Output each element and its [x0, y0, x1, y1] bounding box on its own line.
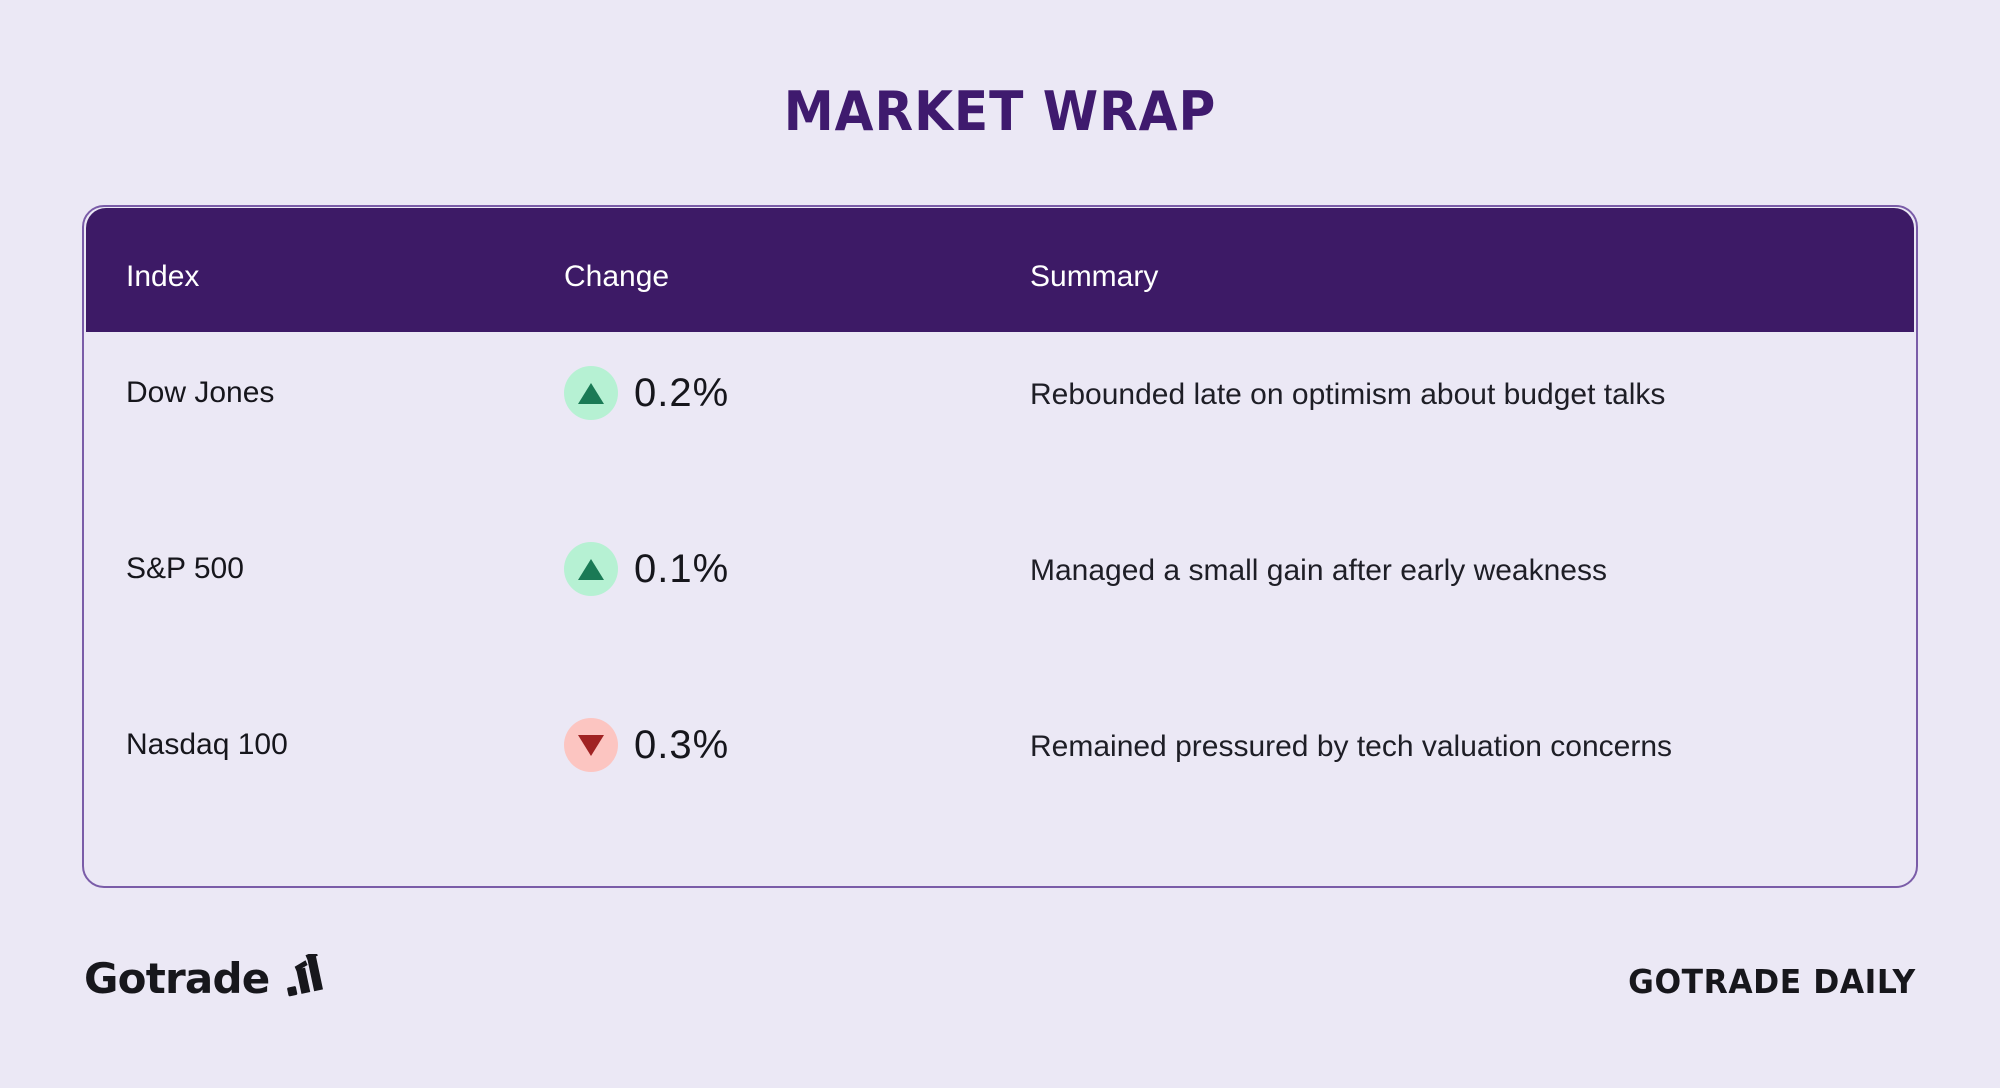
index-name: Dow Jones: [126, 374, 526, 412]
change-value: 0.2%: [634, 370, 729, 416]
column-header-index: Index: [126, 259, 199, 295]
table-body: Dow Jones 0.2% Rebounded late on optimis…: [86, 332, 1914, 886]
column-header-summary: Summary: [1030, 259, 1158, 295]
arrow-down-icon: [564, 718, 618, 772]
change-value: 0.1%: [634, 546, 729, 592]
brand-logo: Gotrade: [84, 952, 327, 1005]
summary-text: Remained pressured by tech valuation con…: [1030, 723, 1790, 770]
change-value: 0.3%: [634, 722, 729, 768]
table-header-row: Index Change Summary: [86, 208, 1914, 332]
brand-wordmark: Gotrade: [84, 956, 269, 1002]
column-header-change: Change: [564, 259, 669, 295]
publication-name: GOTRADE DAILY: [1628, 962, 1916, 1002]
arrow-up-icon: [564, 366, 618, 420]
table-row: Dow Jones 0.2% Rebounded late on optimis…: [86, 338, 1914, 516]
change-cell: 0.1%: [564, 542, 729, 596]
page-title: MARKET WRAP: [70, 82, 1930, 142]
summary-text: Rebounded late on optimism about budget …: [1030, 371, 1790, 418]
table-row: Nasdaq 100 0.3% Remained pressured by te…: [86, 690, 1914, 868]
index-name: S&P 500: [126, 550, 526, 588]
change-cell: 0.2%: [564, 366, 729, 420]
index-name: Nasdaq 100: [126, 726, 526, 764]
market-wrap-page: MARKET WRAP Index Change Summary Dow Jon…: [0, 0, 2000, 1088]
table-row: S&P 500 0.1% Managed a small gain after …: [86, 514, 1914, 692]
summary-text: Managed a small gain after early weaknes…: [1030, 547, 1790, 594]
change-cell: 0.3%: [564, 718, 729, 772]
arrow-up-icon: [564, 542, 618, 596]
gotrade-bars-icon: [281, 954, 327, 1005]
